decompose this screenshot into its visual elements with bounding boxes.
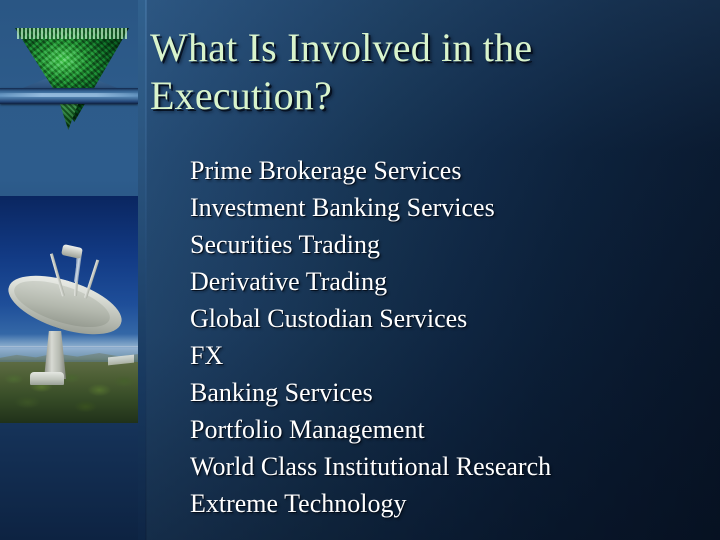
blue-band-sheen (0, 93, 138, 97)
slide-title: What Is Involved in the Execution? (150, 24, 690, 120)
photo-control-building (30, 372, 64, 385)
list-item: Extreme Technology (190, 485, 700, 522)
list-item: Investment Banking Services (190, 189, 700, 226)
photo-scrub-vegetation (0, 368, 138, 423)
left-sidebar (0, 0, 138, 540)
photo-horizon-line (0, 346, 138, 347)
sidebar-divider-line (145, 0, 147, 540)
list-item: Banking Services (190, 374, 700, 411)
list-item: Portfolio Management (190, 411, 700, 448)
slide-canvas: What Is Involved in the Execution? Prime… (0, 0, 720, 540)
list-item: World Class Institutional Research (190, 448, 700, 485)
list-item: Global Custodian Services (190, 300, 700, 337)
satellite-dish-photo (0, 196, 138, 423)
triangle-top-highlight (17, 28, 127, 39)
list-item: Securities Trading (190, 226, 700, 263)
list-item: Prime Brokerage Services (190, 152, 700, 189)
triangle-emblem (0, 0, 138, 140)
slide-bullet-list: Prime Brokerage Services Investment Bank… (190, 152, 700, 522)
list-item: FX (190, 337, 700, 374)
list-item: Derivative Trading (190, 263, 700, 300)
